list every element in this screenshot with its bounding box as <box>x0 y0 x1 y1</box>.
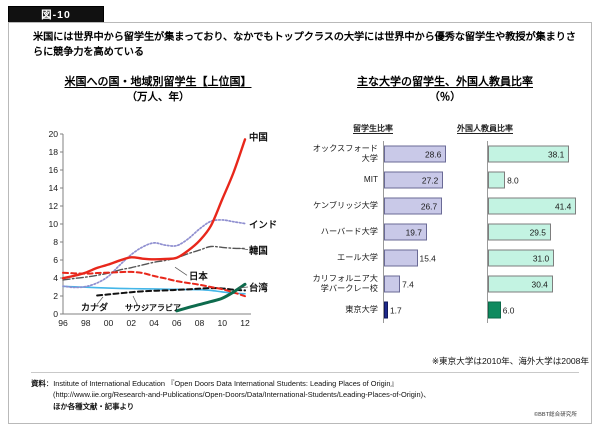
left-chart-title: 米国への国・地域別留学生【上位国】 （万人、年） <box>33 75 283 104</box>
bar-chart-row: カリフォルニア大 学バークレー校7.430.4 <box>305 271 589 297</box>
svg-text:2: 2 <box>53 291 58 301</box>
slide-root: 図-10 米国には世界中から留学生が集まっており、なかでもトップクラスの大学には… <box>0 0 600 435</box>
bar-student-ratio: 7.4 <box>384 276 400 293</box>
bar-value-label: 19.7 <box>406 227 426 237</box>
bar-col2-header: 外国人教員比率 <box>457 123 513 134</box>
bar-track: 1.7 <box>383 297 487 323</box>
svg-text:6: 6 <box>53 255 58 265</box>
bar-student-ratio: 1.7 <box>384 302 388 319</box>
bar-student-ratio: 27.2 <box>384 172 443 189</box>
university-label: ハーバード大学 <box>305 227 383 237</box>
bar-chart-rows: オックスフォード 大学28.638.1MIT27.28.0ケンブリッジ大学26.… <box>305 141 589 323</box>
svg-text:02: 02 <box>126 318 136 328</box>
bar-chart-row: エール大学15.431.0 <box>305 245 589 271</box>
svg-text:10: 10 <box>48 219 58 229</box>
bar-value-label: 31.0 <box>533 253 553 263</box>
line-chart: 02468101214161820969800020406081012中国インド… <box>33 128 295 343</box>
svg-text:台湾: 台湾 <box>249 282 268 293</box>
left-chart-unit: （万人、年） <box>33 90 283 104</box>
svg-text:08: 08 <box>195 318 205 328</box>
svg-text:サウジアラビア: サウジアラビア <box>125 302 181 312</box>
bar-student-ratio: 15.4 <box>384 250 418 267</box>
bar-track: 27.2 <box>383 167 487 193</box>
copyright-text: ©BBT総合研究所 <box>534 410 577 418</box>
bar-faculty-ratio: 8.0 <box>488 172 505 189</box>
svg-text:96: 96 <box>58 318 68 328</box>
bar-track: 15.4 <box>383 245 487 271</box>
university-label: MIT <box>305 175 383 185</box>
bar-track: 29.5 <box>487 219 587 245</box>
svg-text:中国: 中国 <box>249 132 268 143</box>
bar-value-label: 8.0 <box>504 175 519 185</box>
bar-chart: 留学生比率 外国人教員比率 オックスフォード 大学28.638.1MIT27.2… <box>305 123 589 348</box>
source-line1: ：Institute of International Education 『O… <box>46 379 398 388</box>
bar-value-label: 6.0 <box>500 305 515 315</box>
university-label: ケンブリッジ大学 <box>305 201 383 211</box>
right-chart-unit: （％） <box>309 90 581 104</box>
source-line3: ほか各種文献・記事より <box>31 401 579 412</box>
source-label: 資料 <box>31 379 46 388</box>
bar-track: 41.4 <box>487 193 587 219</box>
bar-chart-column-headers: 留学生比率 外国人教員比率 <box>305 123 589 137</box>
bar-track: 8.0 <box>487 167 587 193</box>
left-chart-title-text: 米国への国・地域別留学生【上位国】 <box>65 76 252 88</box>
bar-value-label: 30.4 <box>532 279 552 289</box>
bar-track: 31.0 <box>487 245 587 271</box>
bar-value-label: 26.7 <box>421 201 441 211</box>
bar-faculty-ratio: 30.4 <box>488 276 553 293</box>
university-label: オックスフォード 大学 <box>305 144 383 163</box>
bar-chart-row: MIT27.28.0 <box>305 167 589 193</box>
bar-col1-header: 留学生比率 <box>353 123 393 134</box>
source-divider <box>31 372 579 373</box>
svg-text:06: 06 <box>172 318 182 328</box>
bar-track: 26.7 <box>383 193 487 219</box>
bar-value-label: 15.4 <box>417 253 436 263</box>
svg-text:98: 98 <box>81 318 91 328</box>
bar-value-label: 7.4 <box>399 279 414 289</box>
bar-faculty-ratio: 31.0 <box>488 250 554 267</box>
svg-text:04: 04 <box>149 318 159 328</box>
bar-chart-row: ハーバード大学19.729.5 <box>305 219 589 245</box>
university-label: カリフォルニア大 学バークレー校 <box>305 274 383 293</box>
right-chart-title-text: 主な大学の留学生、外国人教員比率 <box>357 76 533 88</box>
bar-chart-row: 東京大学1.76.0 <box>305 297 589 323</box>
source-block: 資料：Institute of International Education … <box>31 378 579 412</box>
svg-text:16: 16 <box>48 165 58 175</box>
bar-track: 38.1 <box>487 141 587 167</box>
bar-value-label: 27.2 <box>422 175 442 185</box>
svg-text:18: 18 <box>48 147 58 157</box>
svg-text:インド: インド <box>249 219 277 230</box>
bar-faculty-ratio: 41.4 <box>488 198 576 215</box>
university-label: 東京大学 <box>305 305 383 315</box>
slide-frame: 米国には世界中から留学生が集まっており、なかでもトップクラスの大学には世界中から… <box>8 22 592 424</box>
svg-text:韓国: 韓国 <box>249 245 268 256</box>
figure-tag: 図-10 <box>8 6 104 23</box>
right-chart-title: 主な大学の留学生、外国人教員比率 （％） <box>309 75 581 104</box>
svg-text:00: 00 <box>104 318 114 328</box>
bar-faculty-ratio: 29.5 <box>488 224 551 241</box>
bar-faculty-ratio: 38.1 <box>488 146 569 163</box>
bar-value-label: 1.7 <box>387 305 402 315</box>
bar-track: 30.4 <box>487 271 587 297</box>
svg-text:4: 4 <box>53 273 58 283</box>
svg-text:10: 10 <box>217 318 227 328</box>
bar-value-label: 28.6 <box>425 149 445 159</box>
svg-text:日本: 日本 <box>189 271 208 282</box>
bar-chart-note: ※東京大学は2010年、海外大学は2008年 <box>305 355 589 367</box>
bar-value-label: 38.1 <box>548 149 568 159</box>
bar-chart-row: ケンブリッジ大学26.741.4 <box>305 193 589 219</box>
headline-text: 米国には世界中から留学生が集まっており、なかでもトップクラスの大学には世界中から… <box>33 31 581 61</box>
bar-student-ratio: 26.7 <box>384 198 442 215</box>
svg-text:カナダ: カナダ <box>81 302 108 313</box>
university-label: エール大学 <box>305 253 383 263</box>
bar-faculty-ratio: 6.0 <box>488 302 501 319</box>
bar-track: 6.0 <box>487 297 587 323</box>
svg-text:8: 8 <box>53 237 58 247</box>
line-chart-svg: 02468101214161820969800020406081012中国インド… <box>33 128 295 343</box>
svg-text:12: 12 <box>48 201 58 211</box>
svg-text:12: 12 <box>240 318 250 328</box>
bar-value-label: 41.4 <box>555 201 575 211</box>
bar-student-ratio: 28.6 <box>384 146 446 163</box>
bar-student-ratio: 19.7 <box>384 224 427 241</box>
bar-track: 28.6 <box>383 141 487 167</box>
svg-text:14: 14 <box>48 183 58 193</box>
bar-value-label: 29.5 <box>530 227 550 237</box>
bar-track: 7.4 <box>383 271 487 297</box>
source-line2: (http://www.iie.org/Research-and-Publica… <box>31 389 579 400</box>
svg-text:20: 20 <box>48 129 58 139</box>
bar-chart-row: オックスフォード 大学28.638.1 <box>305 141 589 167</box>
bar-track: 19.7 <box>383 219 487 245</box>
